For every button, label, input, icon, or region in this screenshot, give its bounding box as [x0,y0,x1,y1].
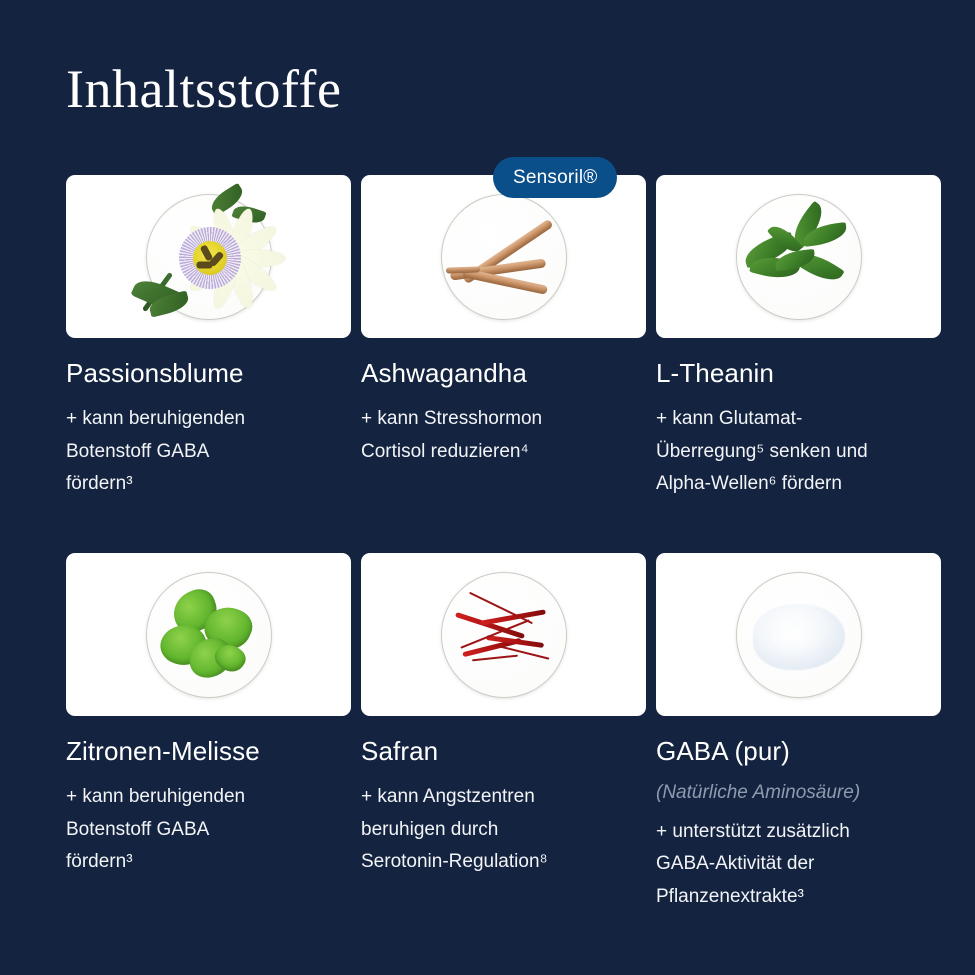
ingredient-subtitle: (Natürliche Aminosäure) [656,780,941,806]
ingredient-title: Zitronen-Melisse [66,737,351,767]
ingredient-description: + kann beruhigenden Botenstoff GABA förd… [66,403,351,501]
petri-dish-icon [736,572,862,698]
ingredient-grid-row-1: Passionsblume + kann beruhigenden Botens… [66,175,942,501]
ingredient-description: + kann Glutamat- Überregung⁵ senken und … [656,403,941,501]
petri-dish-icon [146,572,272,698]
ingredient-card-safran[interactable]: Safran + kann Angstzentren beruhigen dur… [361,553,646,914]
ingredients-page: Inhaltsstoffe [0,0,975,975]
ingredient-title: GABA (pur) [656,737,941,767]
ingredient-card-l-theanin[interactable]: L-Theanin + kann Glutamat- Überregung⁵ s… [656,175,941,501]
lemon-balm-petri-dish-image [66,553,351,716]
sensoril-badge: Sensoril® [493,157,617,198]
gaba-powder-petri-dish-image [656,553,941,716]
saffron-threads-petri-dish-image [361,553,646,716]
ingredient-title: Safran [361,737,646,767]
ingredient-description: + kann Stresshormon Cortisol reduzieren⁴ [361,403,646,468]
ingredient-title: Ashwagandha [361,359,646,389]
ingredient-card-zitronen-melisse[interactable]: Zitronen-Melisse + kann beruhigenden Bot… [66,553,351,914]
petri-dish-icon [441,572,567,698]
petri-dish-icon [146,194,272,320]
ashwagandha-root-petri-dish-image [361,175,646,338]
ingredient-description: + kann beruhigenden Botenstoff GABA förd… [66,781,351,879]
ingredient-card-passionsblume[interactable]: Passionsblume + kann beruhigenden Botens… [66,175,351,501]
ingredient-description: + kann Angstzentren beruhigen durch Sero… [361,781,646,879]
ingredient-card-gaba-pur[interactable]: GABA (pur) (Natürliche Aminosäure) + unt… [656,553,941,914]
ingredient-card-ashwagandha[interactable]: Ashwagandha + kann Stresshormon Cortisol… [361,175,646,501]
ingredient-grid-row-2: Zitronen-Melisse + kann beruhigenden Bot… [66,553,942,914]
ingredient-title: L-Theanin [656,359,941,389]
petri-dish-icon [736,194,862,320]
ingredient-description: + unterstützt zusätzlich GABA-Aktivität … [656,816,941,914]
ingredient-title: Passionsblume [66,359,351,389]
page-title: Inhaltsstoffe [66,58,341,120]
passionflower-petri-dish-image [66,175,351,338]
green-tea-leaves-petri-dish-image [656,175,941,338]
petri-dish-icon [441,194,567,320]
